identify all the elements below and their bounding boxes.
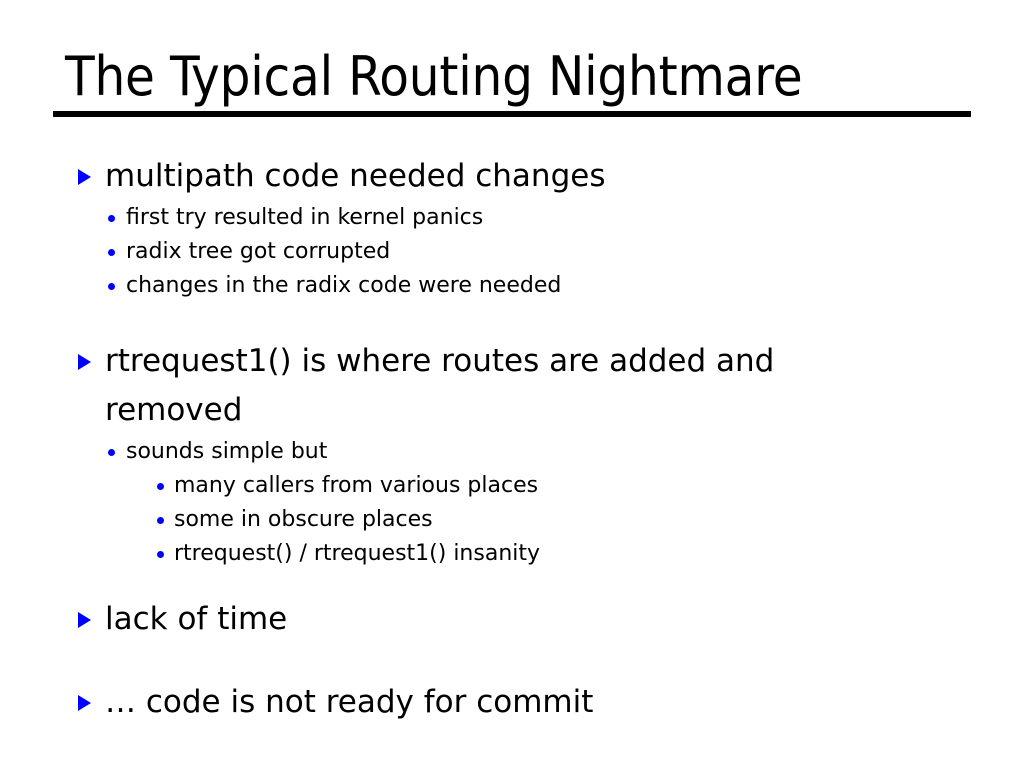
triangle-bullet-icon [78,695,91,711]
page-title: The Typical Routing Nightmare [53,48,971,106]
list-item-label: … code is not ready for commit [105,684,593,720]
triangle-bullet-icon [78,354,91,370]
group-spacer [0,571,1024,595]
dot-bullet-icon [108,283,115,290]
list-item-level1: multipath code needed changes [0,152,1024,201]
list-item-label: changes in the radix code were needed [126,273,561,298]
list-item-level1: lack of time [0,595,1024,644]
list-item-level3: rtrequest() / rtrequest1() insanity [0,537,1024,571]
title-block: The Typical Routing Nightmare [53,48,971,106]
list-item-level2: sounds simple but [0,435,1024,469]
slide: The Typical Routing Nightmare multipath … [0,0,1024,768]
dot-bullet-icon [157,551,164,558]
title-divider [53,111,971,117]
slide-body: multipath code needed changes first try … [0,152,1024,727]
triangle-bullet-icon [78,612,91,628]
list-item-label: multipath code needed changes [105,158,605,194]
dot-bullet-icon [157,517,164,524]
dot-bullet-icon [157,483,164,490]
list-item-level2: changes in the radix code were needed [0,269,1024,303]
dot-bullet-icon [108,215,115,222]
list-item-label: radix tree got corrupted [126,239,390,264]
list-item-level1: … code is not ready for commit [0,678,1024,727]
list-item-level3: many callers from various places [0,469,1024,503]
list-item-label: lack of time [105,601,287,637]
list-item-level2: radix tree got corrupted [0,235,1024,269]
group-spacer [0,644,1024,678]
group-spacer [0,303,1024,337]
list-item-label: rtrequest() / rtrequest1() insanity [174,541,540,566]
triangle-bullet-icon [78,169,91,185]
list-item-label: many callers from various places [174,473,538,498]
list-item-label: first try resulted in kernel panics [126,205,483,230]
list-item-label: some in obscure places [174,507,433,532]
list-item-label: rtrequest1() is where routes are added a… [105,343,774,428]
dot-bullet-icon [108,449,115,456]
dot-bullet-icon [108,249,115,256]
list-item-level2: first try resulted in kernel panics [0,201,1024,235]
list-item-level3: some in obscure places [0,503,1024,537]
list-item-level1: rtrequest1() is where routes are added a… [0,337,1024,435]
list-item-label: sounds simple but [126,439,327,464]
